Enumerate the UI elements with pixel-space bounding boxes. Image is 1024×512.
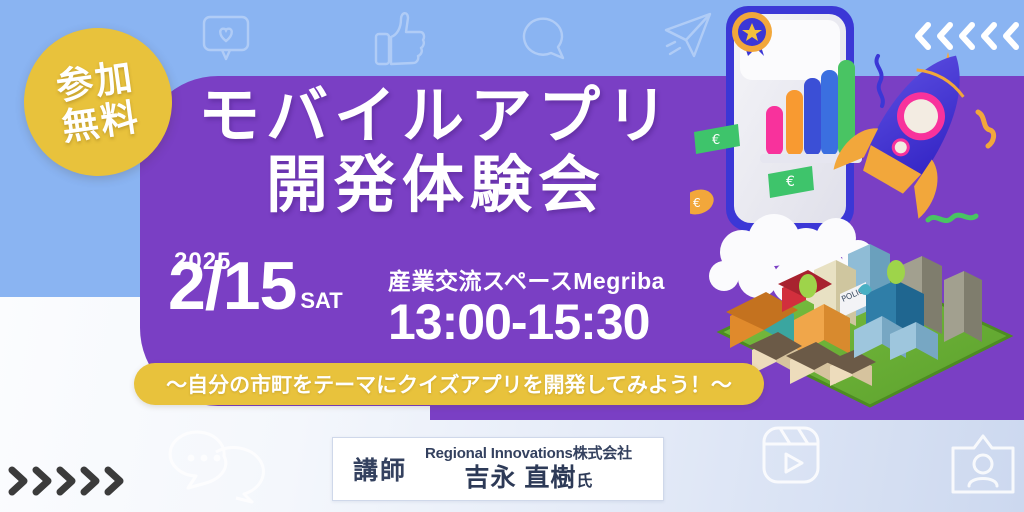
squiggle-decoration	[876, 56, 882, 106]
3d-mobile-app-city-illustration: € € €	[690, 0, 1024, 414]
heart-bubble-icon	[200, 12, 256, 68]
chevrons-right-decoration	[6, 462, 124, 500]
speaker-box: 講師 Regional Innovations株式会社 吉永 直樹氏	[332, 437, 664, 501]
euro-coin: €	[690, 186, 717, 219]
event-venue-time: 産業交流スペースMegriba 13:00-15:30	[388, 262, 665, 347]
speaker-organization: Regional Innovations株式会社	[425, 445, 632, 463]
squiggle-decoration	[978, 112, 994, 146]
rocket	[831, 30, 1001, 221]
speech-bubble-icon	[518, 14, 574, 66]
squiggle-decoration	[928, 215, 976, 220]
event-date: 2025 2/15 SAT	[150, 252, 343, 320]
tree	[887, 260, 905, 284]
svg-text:€: €	[712, 133, 720, 148]
svg-text:€: €	[693, 196, 701, 210]
profile-card-icon	[948, 432, 1018, 498]
title-line-2: 開発体験会	[186, 151, 686, 220]
title-line-1: モバイルアプリ	[186, 84, 686, 151]
thumbs-up-icon	[370, 6, 428, 68]
venue-name: 産業交流スペースMegriba	[388, 262, 665, 296]
date-year: 2025	[174, 248, 231, 276]
speaker-label: 講師	[353, 451, 407, 487]
subtitle-text: 〜自分の市町をテーマにクイズアプリを開発してみよう！〜	[166, 369, 732, 399]
speaker-honorific: 氏	[576, 473, 592, 490]
svg-text:€: €	[786, 174, 795, 190]
subtitle-pill: 〜自分の市町をテーマにクイズアプリを開発してみよう！〜	[134, 363, 764, 405]
event-title: モバイルアプリ 開発体験会	[186, 84, 686, 220]
video-reel-icon	[760, 424, 822, 486]
tree	[799, 274, 817, 298]
event-banner: € € €	[0, 0, 1024, 512]
event-time: 13:00-15:30	[388, 297, 665, 347]
chat-bubbles-icon	[166, 428, 276, 506]
speaker-name: 吉永 直樹氏	[464, 463, 592, 493]
date-weekday: SAT	[300, 288, 342, 314]
speaker-person-name: 吉永 直樹	[464, 464, 576, 492]
